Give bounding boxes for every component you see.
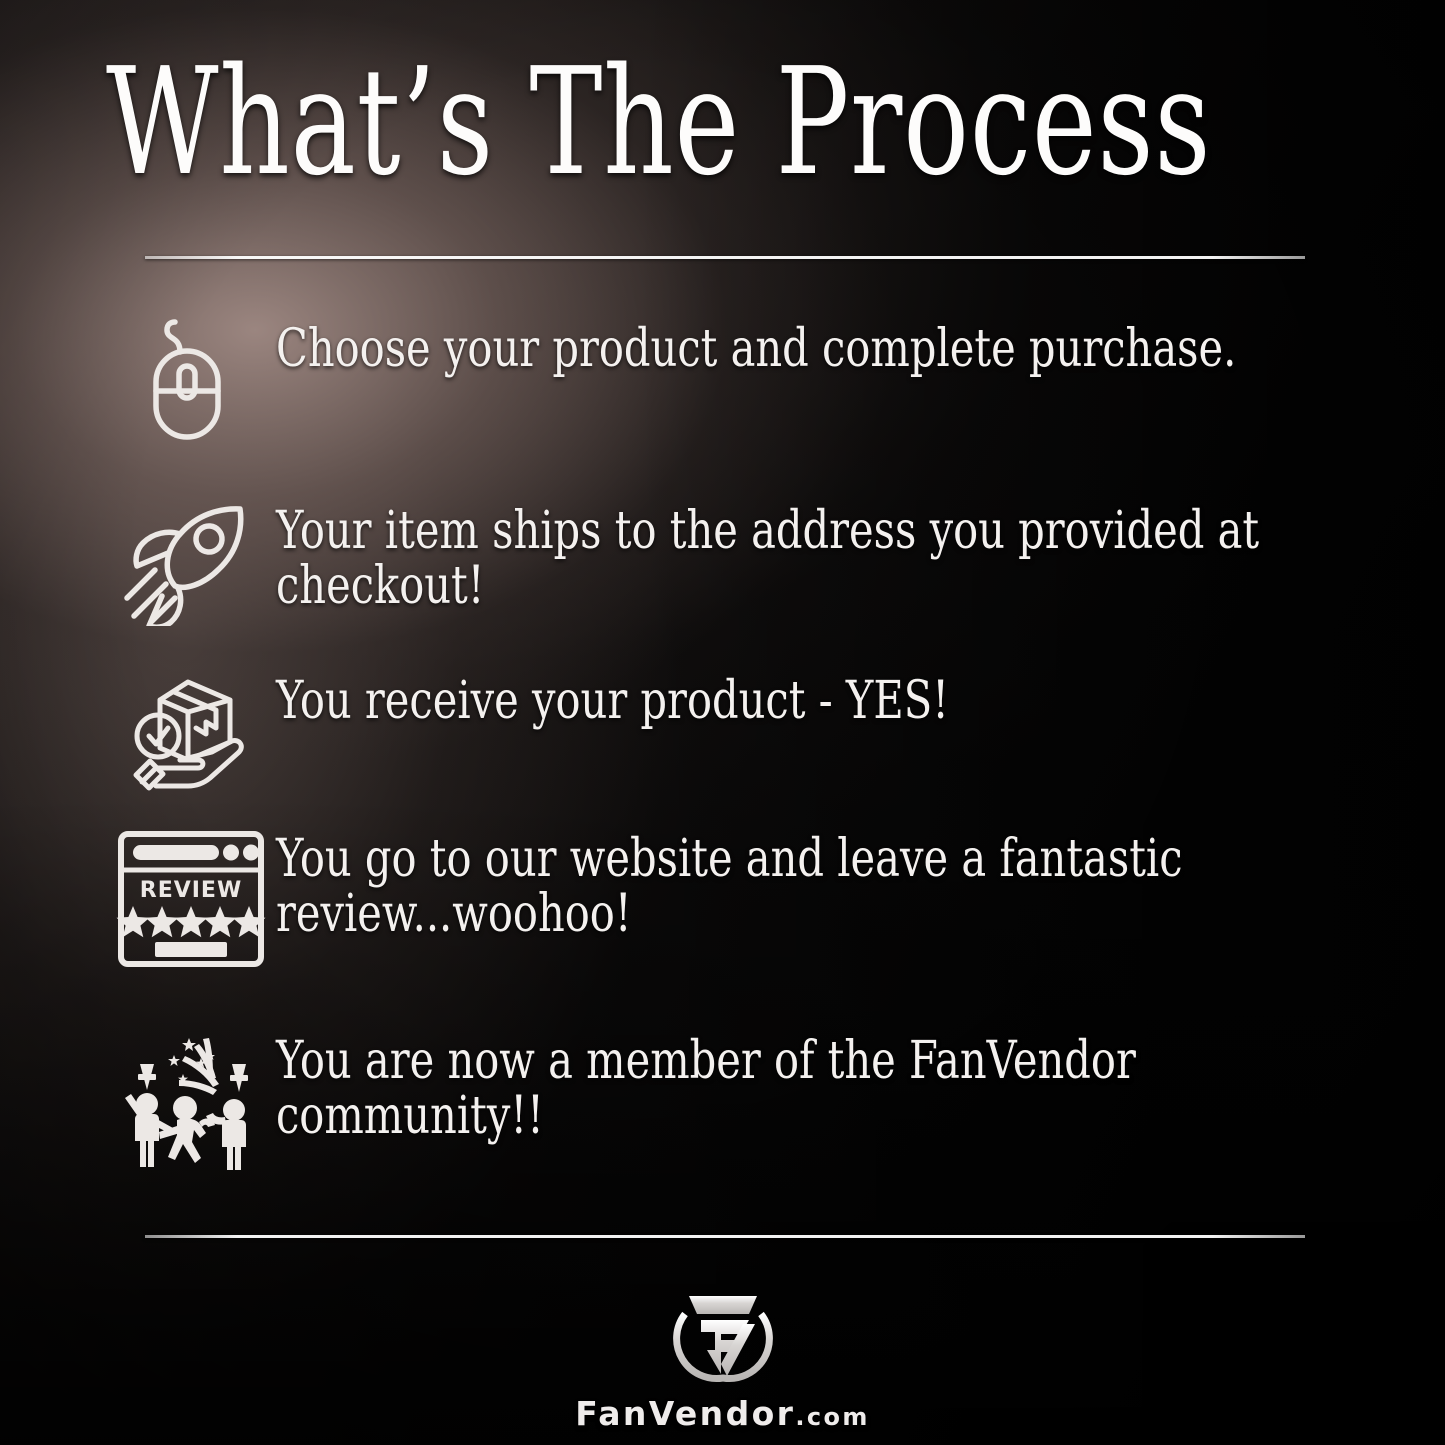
list-item: Your item ships to the address you provi… (106, 500, 1445, 626)
list-item: Choose your product and complete purchas… (106, 318, 1445, 442)
list-item-label: You receive your product - YES! (276, 670, 1364, 729)
brand-wordmark: FanVendor.com (575, 1394, 870, 1433)
computer-mouse-icon (106, 318, 276, 442)
package-in-hand-check-icon (106, 670, 276, 800)
page-title: What’s The Process (106, 48, 1053, 196)
review-browser-stars-icon: REVIEW (106, 828, 276, 970)
list-item-label: You go to our website and leave a fantas… (276, 828, 1364, 942)
list-item-label: Choose your product and complete purchas… (276, 318, 1364, 377)
list-item: You are now a member of the FanVendor co… (106, 1030, 1445, 1170)
list-item-label: Your item ships to the address you provi… (276, 500, 1364, 614)
rocket-icon (106, 500, 276, 626)
list-item: REVIEW You go to our website and leave a… (106, 828, 1445, 970)
fanvendor-shield-icon (671, 1288, 775, 1384)
list-item-label: You are now a member of the FanVendor co… (276, 1030, 1364, 1144)
footer-brand: FanVendor.com (0, 1288, 1445, 1433)
brand-tld: .com (795, 1403, 869, 1431)
poster-canvas: What’s The Process Choose your product a… (0, 0, 1445, 1445)
brand-name: FanVendor (575, 1394, 795, 1433)
divider-bottom (145, 1235, 1305, 1238)
list-item: You receive your product - YES! (106, 670, 1445, 800)
celebration-people-icon (106, 1030, 276, 1170)
divider-top (145, 256, 1305, 259)
review-label: REVIEW (140, 878, 242, 903)
